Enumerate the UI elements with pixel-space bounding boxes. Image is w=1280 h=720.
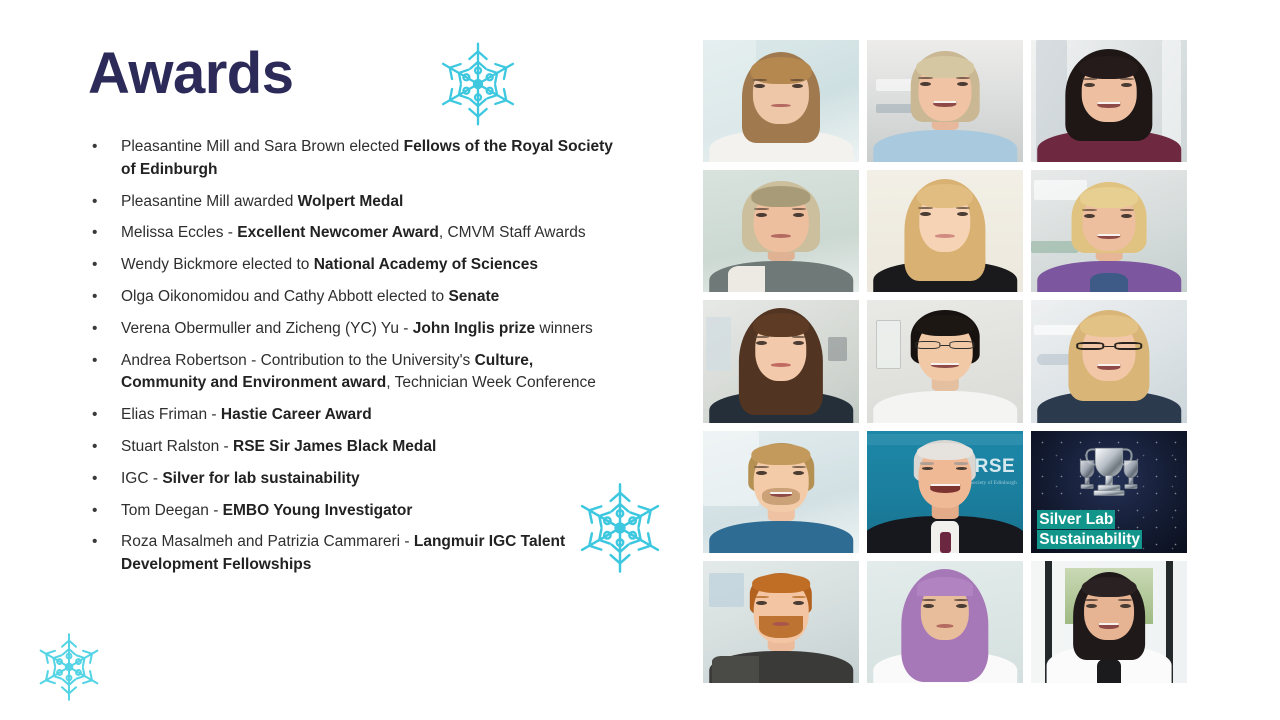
bullet-marker: •	[92, 318, 97, 341]
award-bold: National Academy of Sciences	[314, 256, 538, 273]
photo-tile	[1031, 40, 1187, 162]
award-bold: Senate	[448, 288, 499, 305]
award-bold: RSE Sir James Black Medal	[233, 438, 436, 455]
bullet-marker: •	[92, 500, 97, 523]
award-plain-prefix: Pleasantine Mill and Sara Brown elected	[121, 138, 404, 155]
photo-tile	[703, 561, 859, 683]
award-bold: John Inglis prize	[413, 320, 535, 337]
photo-tile	[1031, 300, 1187, 422]
award-plain-suffix: , CMVM Staff Awards	[439, 224, 586, 241]
snowflake-icon	[430, 36, 526, 132]
award-text: Melissa Eccles - Excellent Newcomer Awar…	[121, 224, 586, 241]
award-text: Stuart Ralston - RSE Sir James Black Med…	[121, 438, 436, 455]
award-plain-prefix: IGC -	[121, 470, 162, 487]
award-text: Verena Obermuller and Zicheng (YC) Yu - …	[121, 320, 593, 337]
award-text: IGC - Silver for lab sustainability	[121, 470, 360, 487]
page-title: Awards	[88, 44, 293, 105]
award-bold: Excellent Newcomer Award	[237, 224, 439, 241]
photo-tile	[867, 170, 1023, 292]
bullet-marker: •	[92, 286, 97, 309]
award-plain-prefix: Melissa Eccles -	[121, 224, 237, 241]
slide-root: Awards • Pleasantine Mill and Sara Brown…	[0, 0, 1280, 720]
bullet-marker: •	[92, 350, 97, 373]
bullet-marker: •	[92, 254, 97, 277]
photo-tile	[867, 561, 1023, 683]
bullet-marker: •	[92, 222, 97, 245]
photo-grid: RSE The Royal Society of Edinburgh	[703, 40, 1187, 683]
list-item: • Verena Obermuller and Zicheng (YC) Yu …	[88, 318, 618, 341]
list-item: • Olga Oikonomidou and Cathy Abbott elec…	[88, 286, 618, 309]
award-plain-prefix: Verena Obermuller and Zicheng (YC) Yu -	[121, 320, 413, 337]
award-caption-line1: Silver Lab	[1037, 510, 1115, 529]
award-text: Elias Friman - Hastie Career Award	[121, 406, 372, 423]
photo-tile	[867, 300, 1023, 422]
list-item: • Tom Deegan - EMBO Young Investigator	[88, 500, 618, 523]
award-trophy-tile: Silver Lab Sustainability	[1031, 431, 1187, 553]
photo-tile	[703, 40, 859, 162]
award-text: Olga Oikonomidou and Cathy Abbott electe…	[121, 288, 499, 305]
award-bold: Hastie Career Award	[221, 406, 372, 423]
award-plain-prefix: Stuart Ralston -	[121, 438, 233, 455]
trophy-icon	[1062, 440, 1156, 508]
bullet-marker: •	[92, 531, 97, 554]
award-plain-prefix: Andrea Robertson - Contribution to the U…	[121, 352, 475, 369]
snowflake-icon	[568, 476, 672, 580]
award-plain-prefix: Roza Masalmeh and Patrizia Cammareri -	[121, 533, 414, 550]
list-item: • Pleasantine Mill and Sara Brown electe…	[88, 136, 618, 182]
list-item: • Elias Friman - Hastie Career Award	[88, 404, 618, 427]
bullet-marker: •	[92, 468, 97, 491]
award-text: Wendy Bickmore elected to National Acade…	[121, 256, 538, 273]
award-plain-prefix: Elias Friman -	[121, 406, 221, 423]
award-text: Tom Deegan - EMBO Young Investigator	[121, 502, 412, 519]
photo-tile	[1031, 170, 1187, 292]
award-bold: Silver for lab sustainability	[162, 470, 359, 487]
photo-tile	[703, 170, 859, 292]
bullet-marker: •	[92, 404, 97, 427]
award-text: Andrea Robertson - Contribution to the U…	[121, 352, 596, 392]
rse-wordmark: RSE	[975, 457, 1016, 476]
list-item: • Melissa Eccles - Excellent Newcomer Aw…	[88, 222, 618, 245]
award-bold: EMBO Young Investigator	[223, 502, 413, 519]
photo-tile: RSE The Royal Society of Edinburgh	[867, 431, 1023, 553]
award-text: Roza Masalmeh and Patrizia Cammareri - L…	[121, 533, 565, 573]
award-caption: Silver Lab Sustainability	[1037, 510, 1142, 549]
photo-tile	[1031, 561, 1187, 683]
list-item: • Roza Masalmeh and Patrizia Cammareri -…	[88, 531, 618, 577]
award-plain-prefix: Wendy Bickmore elected to	[121, 256, 314, 273]
list-item: • Wendy Bickmore elected to National Aca…	[88, 254, 618, 277]
award-plain-prefix: Olga Oikonomidou and Cathy Abbott electe…	[121, 288, 448, 305]
photo-tile	[703, 300, 859, 422]
award-plain-suffix: winners	[535, 320, 593, 337]
list-item: • Andrea Robertson - Contribution to the…	[88, 350, 618, 396]
bullet-marker: •	[92, 436, 97, 459]
photo-tile	[867, 40, 1023, 162]
award-text: Pleasantine Mill awarded Wolpert Medal	[121, 193, 403, 210]
award-text: Pleasantine Mill and Sara Brown elected …	[121, 138, 613, 178]
awards-list: • Pleasantine Mill and Sara Brown electe…	[88, 136, 618, 586]
bullet-marker: •	[92, 191, 97, 214]
award-caption-line2: Sustainability	[1037, 530, 1142, 549]
bullet-marker: •	[92, 136, 97, 159]
award-plain-suffix: , Technician Week Conference	[386, 374, 596, 391]
list-item: • Pleasantine Mill awarded Wolpert Medal	[88, 191, 618, 214]
snowflake-icon	[30, 628, 108, 706]
photo-tile	[703, 431, 859, 553]
award-plain-prefix: Pleasantine Mill awarded	[121, 193, 298, 210]
list-item: • IGC - Silver for lab sustainability	[88, 468, 618, 491]
list-item: • Stuart Ralston - RSE Sir James Black M…	[88, 436, 618, 459]
award-bold: Wolpert Medal	[298, 193, 404, 210]
award-plain-prefix: Tom Deegan -	[121, 502, 223, 519]
